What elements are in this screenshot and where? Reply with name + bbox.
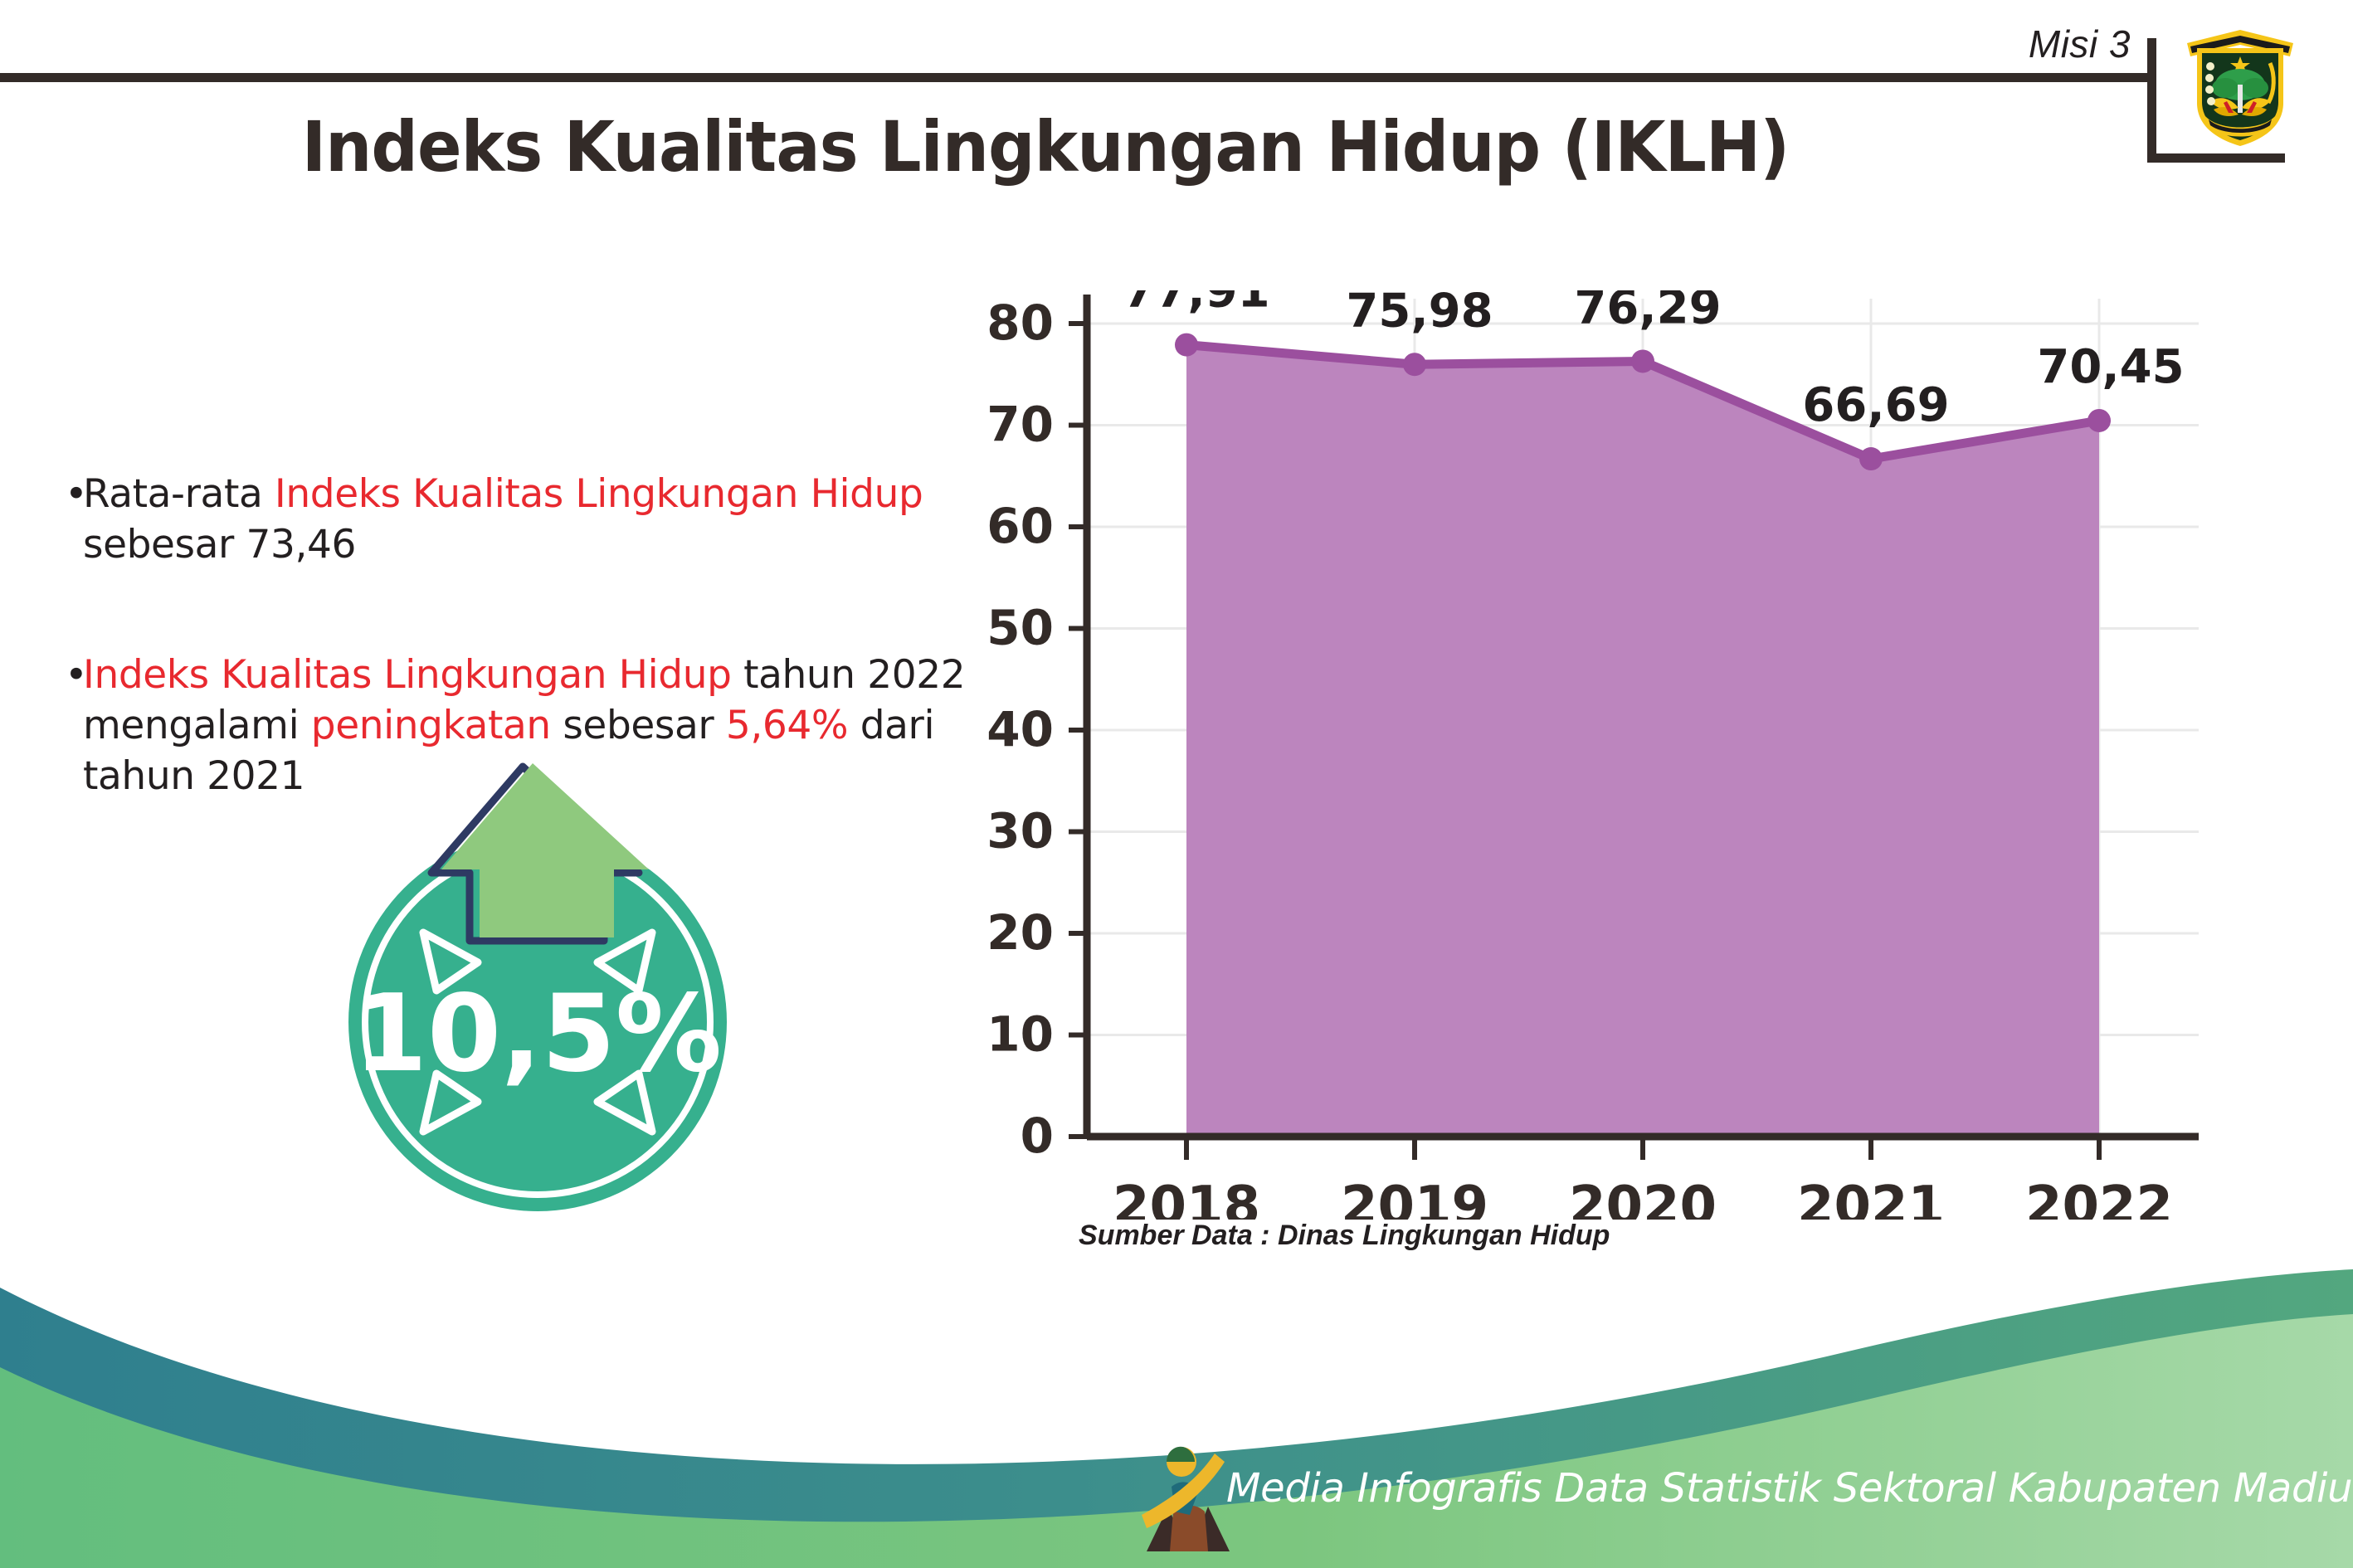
chart-x-axis: 20182019202020212022 — [1087, 1137, 2199, 1220]
data-point-marker — [2087, 409, 2111, 432]
data-label: 76,29 — [1574, 290, 1721, 334]
bullet-text-1: Rata-rata Indeks Kualitas Lingkungan Hid… — [83, 469, 977, 570]
data-point-marker — [1859, 447, 1883, 470]
y-axis-tick-label: 20 — [987, 904, 1054, 961]
y-axis-tick-label: 10 — [987, 1006, 1054, 1063]
infographic-slide: Misi 3 Indeks Kualitas — [0, 0, 2353, 1568]
y-axis-tick-label: 30 — [987, 803, 1054, 859]
y-axis-tick-label: 0 — [1021, 1108, 1054, 1164]
bullet-segment-3: sebesar — [551, 703, 726, 748]
misi-label: Misi 3 — [2029, 22, 2131, 66]
x-axis-tick-label: 2020 — [1569, 1176, 1717, 1220]
page-title: Indeks Kualitas Lingkungan Hidup (IKLH) — [63, 106, 2029, 187]
x-axis-tick-label: 2021 — [1797, 1176, 1945, 1220]
statistik-figure-logo-icon — [1138, 1435, 1238, 1560]
chart-y-axis: 01020304050607080 — [987, 295, 1087, 1164]
y-axis-tick-label: 80 — [987, 295, 1054, 351]
data-label: 75,98 — [1346, 290, 1493, 338]
y-axis-tick-label: 60 — [987, 498, 1054, 554]
data-point-marker — [1175, 334, 1198, 357]
bullet-segment-1: Indeks Kualitas Lingkungan Hidup — [275, 471, 923, 517]
header-bracket-vertical — [2147, 38, 2156, 163]
area-fill — [1186, 345, 2099, 1137]
data-point-marker — [1631, 349, 1654, 373]
data-point-marker — [1403, 353, 1426, 376]
y-axis-tick-label: 40 — [987, 701, 1054, 757]
chart-source-label: Sumber Data : Dinas Lingkungan Hidup — [1079, 1220, 1610, 1252]
bullet-segment-2: peningkatan — [311, 703, 551, 748]
bullet-segment-0: Indeks Kualitas Lingkungan Hidup — [83, 652, 732, 698]
iklh-area-chart: 77,9175,9876,2966,6970,45 01020304050607… — [979, 290, 2273, 1220]
kabupaten-madiun-crest-icon — [2174, 15, 2307, 154]
bullet-item-1: • Rata-rata Indeks Kualitas Lingkungan H… — [65, 469, 977, 570]
data-label: 70,45 — [2037, 340, 2184, 394]
x-axis-tick-label: 2022 — [2025, 1176, 2173, 1220]
x-axis-tick-label: 2018 — [1113, 1176, 1260, 1220]
badge-value: 10,5% — [353, 972, 722, 1096]
bullet-segment-0: Rata-rata — [83, 471, 275, 517]
bullet-marker: • — [65, 469, 83, 519]
header-divider — [0, 73, 2147, 82]
data-label: 66,69 — [1802, 378, 1949, 432]
bullet-list: • Rata-rata Indeks Kualitas Lingkungan H… — [65, 469, 977, 801]
increase-badge: 10,5% — [330, 757, 745, 1221]
data-label: 77,91 — [1123, 290, 1269, 319]
bullet-marker: • — [65, 650, 83, 700]
y-axis-tick-label: 50 — [987, 600, 1054, 656]
bullet-segment-4: 5,64% — [726, 703, 848, 748]
footer-caption: Media Infografis Data Statistik Sektoral… — [1226, 1465, 2353, 1512]
bullet-segment-2: sebesar 73,46 — [83, 522, 356, 567]
y-axis-tick-label: 70 — [987, 397, 1054, 453]
chart-area-series — [1186, 345, 2099, 1137]
header-bracket-horizontal — [2147, 153, 2285, 163]
x-axis-tick-label: 2019 — [1341, 1176, 1488, 1220]
